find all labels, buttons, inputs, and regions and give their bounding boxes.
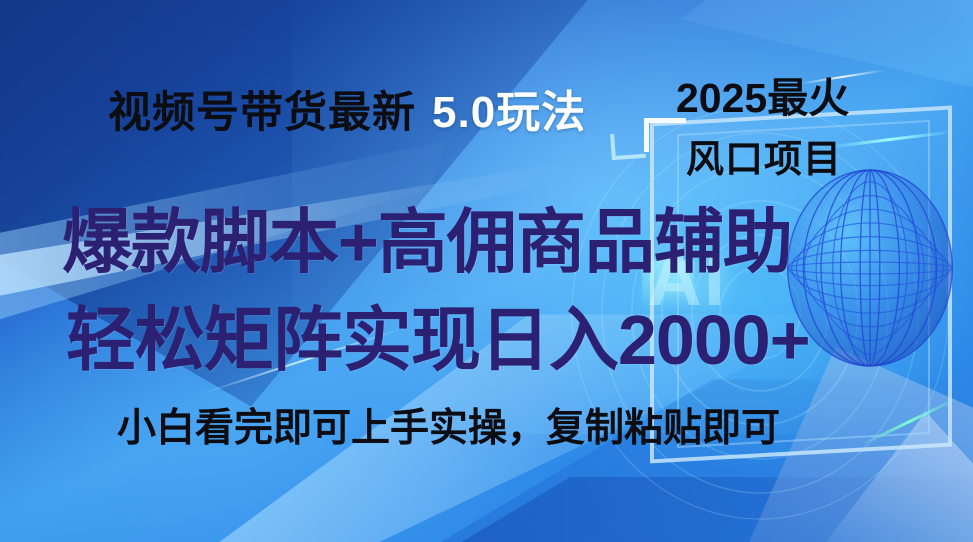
kicker-line: 视频号带货最新5.0玩法	[108, 76, 586, 140]
badge-line-2: 风口项目	[686, 128, 842, 183]
promo-poster: AI	[0, 0, 973, 542]
badge-line-1: 2025最火	[676, 64, 849, 124]
corner-bracket-secondary-icon	[610, 132, 646, 160]
kicker-text: 视频号带货最新	[108, 89, 416, 137]
headline-line-2: 轻松矩阵实现日入2000+	[66, 284, 810, 385]
kicker-version: 5.0玩法	[432, 88, 586, 137]
subtitle-line: 小白看完即可上手实操，复制粘贴即可	[117, 397, 780, 453]
headline-line-1: 爆款脚本+高佣商品辅助	[62, 186, 792, 287]
